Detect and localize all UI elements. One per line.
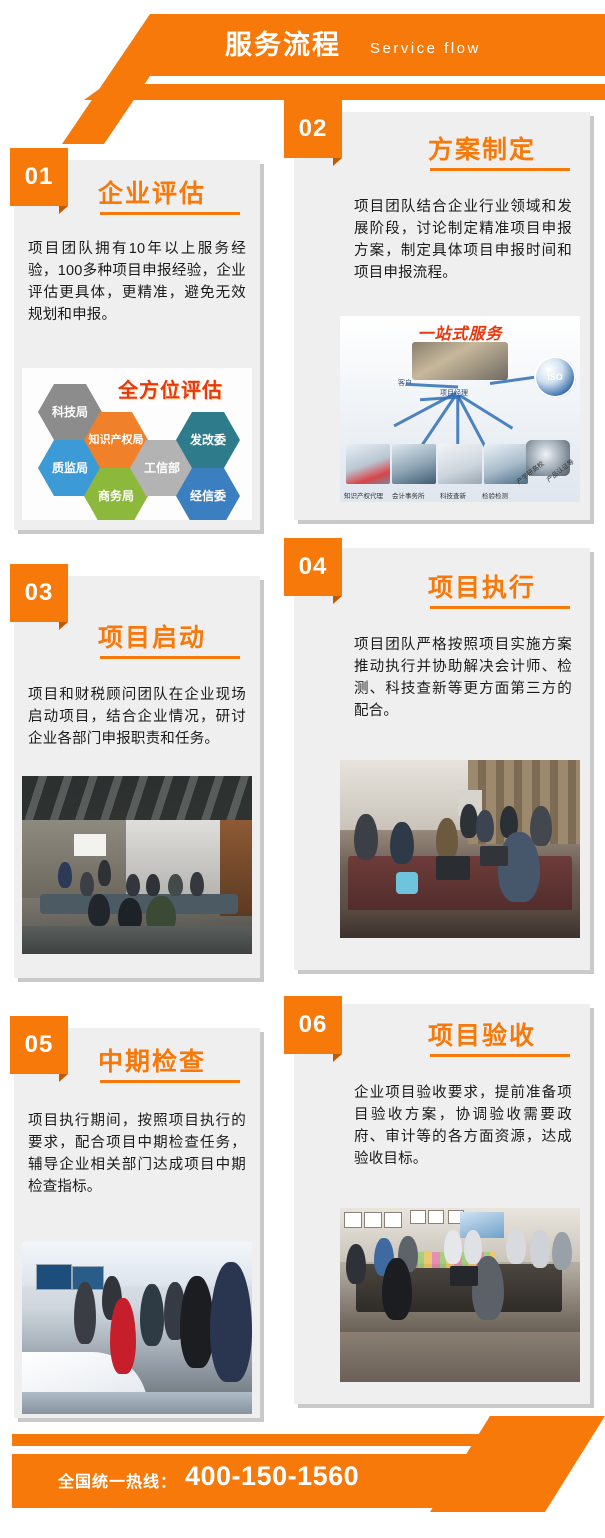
step-badge-01: 01	[10, 148, 68, 206]
step-title-rule-05	[100, 1080, 240, 1083]
page-title: 服务流程	[225, 24, 341, 66]
step-badge-05: 05	[10, 1016, 68, 1074]
photo-floor	[340, 910, 580, 938]
step-title-02: 方案制定	[428, 130, 536, 166]
step-body-01: 项目团队拥有10年以上服务经验，100多种项目申报经验，企业评估更具体，更精准，…	[28, 238, 246, 326]
step-title-03: 项目启动	[98, 618, 206, 654]
step-title-rule-04	[430, 606, 570, 609]
one-stop-thumb-ip	[346, 444, 390, 484]
photo-ceiling	[22, 776, 252, 822]
step-card-04: 04 项目执行 项目团队严格按照项目实施方案推动执行并协助解决会计师、检测、科技…	[294, 548, 590, 970]
step-title-rule-01	[100, 212, 240, 215]
step-body-05: 项目执行期间，按照项目执行的要求，配合项目中期检查任务，辅导企业相关部门达成项目…	[28, 1110, 246, 1198]
one-stop-diagram: 一站式服务 客户 项目经理 ISO 知识产权代理 会计事务	[340, 316, 580, 502]
photo-laptop	[436, 856, 470, 880]
photo-person	[168, 874, 183, 896]
step-media-01: 全方位评估 科技局 质监局 知识产权局 商务局 工信部 发改委 经信委	[22, 368, 252, 520]
photo-person	[530, 806, 552, 846]
step-title-rule-06	[430, 1054, 570, 1057]
photo-person	[98, 860, 111, 886]
page-subtitle: Service flow	[370, 36, 481, 62]
photo-whiteboard	[74, 834, 106, 856]
photo-team-working-meeting	[340, 760, 580, 938]
step-badge-06: 06	[284, 996, 342, 1054]
photo-certificate-frame	[364, 1212, 382, 1228]
photo-boardroom-acceptance-meeting	[340, 1208, 580, 1382]
step-card-02: 02 方案制定 项目团队结合企业行业领域和发展阶段，讨论制定精准项目申报方案，制…	[294, 112, 590, 520]
photo-certificate-frame	[410, 1210, 426, 1224]
photo-person	[74, 1282, 96, 1344]
step-media-04	[340, 760, 580, 938]
hex-node-label: 发改委	[190, 434, 226, 447]
hex-node-label: 科技局	[52, 406, 88, 419]
photo-floor	[340, 1332, 580, 1382]
step-media-06	[340, 1208, 580, 1382]
photo-laptop	[450, 1266, 478, 1286]
photo-person	[390, 822, 414, 864]
photo-person	[140, 1284, 164, 1346]
one-stop-label-manager: 项目经理	[440, 388, 468, 398]
photo-certificate-frame	[344, 1212, 362, 1228]
step-card-05: 05 中期检查 项目执行期间，按照项目执行的要求，配合项目中期检查任务，辅导企业…	[14, 1028, 260, 1418]
photo-floor	[22, 926, 252, 954]
hex-node-label: 工信部	[144, 462, 180, 475]
one-stop-label-customer: 客户	[398, 378, 412, 388]
hex-node-label: 知识产权局	[89, 434, 144, 447]
photo-bag	[396, 872, 418, 894]
photo-person	[444, 1230, 462, 1264]
step-body-06: 企业项目验收要求，提前准备项目验收方案，协调验收需要政府、审计等的各方面资源，达…	[354, 1082, 572, 1170]
one-stop-thumb-search	[438, 444, 482, 484]
photo-person-foreground	[382, 1258, 412, 1320]
hotline-number[interactable]: 400-150-1560	[185, 1461, 359, 1492]
one-stop-bottom-label: 科技查新	[440, 490, 466, 500]
step-title-rule-02	[430, 168, 570, 171]
hex-node-label: 商务局	[98, 490, 134, 503]
certification-seal-icon: ISO	[534, 356, 576, 398]
flow-arrow	[457, 395, 460, 447]
photo-person	[346, 1244, 366, 1284]
step-card-06: 06 项目验收 企业项目验收要求，提前准备项目验收方案，协调验收需要政府、审计等…	[294, 1004, 590, 1404]
header-stripe	[84, 84, 605, 100]
photo-floor	[22, 1392, 252, 1414]
step-card-03: 03 项目启动 项目和财税顾问团队在企业现场启动项目，结合企业情况，研讨企业各部…	[14, 576, 260, 978]
page-header: 服务流程 Service flow	[0, 0, 605, 112]
step-media-05	[22, 1242, 252, 1414]
photo-person	[552, 1232, 572, 1270]
step-title-01: 企业评估	[98, 174, 206, 210]
one-stop-hub-photo	[412, 342, 508, 380]
photo-person	[58, 862, 72, 888]
step-title-05: 中期检查	[98, 1042, 206, 1078]
photo-person-foreground	[88, 894, 110, 926]
step-media-03	[22, 776, 252, 954]
photo-certificate-frame	[428, 1210, 444, 1224]
hex-node-label: 经信委	[190, 490, 226, 503]
one-stop-thumb-accounting	[392, 444, 436, 484]
step-badge-02: 02	[284, 100, 342, 158]
hex-node-label: 质监局	[52, 462, 88, 475]
photo-person	[80, 872, 94, 896]
photo-person	[126, 874, 140, 896]
photo-monitor	[36, 1264, 72, 1290]
photo-lobby-group-visit	[22, 1242, 252, 1414]
photo-person	[530, 1230, 550, 1268]
one-stop-diagram-title: 一站式服务	[417, 320, 502, 344]
photo-laptop	[480, 846, 508, 866]
step-badge-03: 03	[10, 564, 68, 622]
page-footer: 全国统一热线： 400-150-1560	[0, 1420, 605, 1538]
photo-person	[460, 804, 478, 838]
photo-person-foreground	[210, 1262, 252, 1382]
photo-person	[190, 872, 204, 896]
one-stop-bottom-label: 知识产权代理	[344, 490, 383, 500]
step-body-02: 项目团队结合企业行业领域和发展阶段，讨论制定精准项目申报方案，制定具体项目申报时…	[354, 196, 572, 284]
one-stop-bottom-label: 会计事务所	[392, 490, 425, 500]
photo-person-foreground	[498, 832, 540, 902]
step-title-rule-03	[100, 656, 240, 659]
step-card-01: 01 企业评估 项目团队拥有10年以上服务经验，100多种项目申报经验，企业评估…	[14, 160, 260, 530]
photo-certificate-frame	[384, 1212, 402, 1228]
photo-person	[146, 874, 160, 896]
photo-person-red-coat	[110, 1298, 136, 1374]
hotline-label: 全国统一热线：	[58, 1468, 177, 1492]
step-title-06: 项目验收	[428, 1016, 536, 1052]
step-body-04: 项目团队严格按照项目实施方案推动执行并协助解决会计师、检测、科技查新等更方面第三…	[354, 634, 572, 722]
hexagon-diagram: 全方位评估 科技局 质监局 知识产权局 商务局 工信部 发改委 经信委	[22, 368, 252, 520]
step-body-03: 项目和财税顾问团队在企业现场启动项目，结合企业情况，研讨企业各部门申报职责和任务…	[28, 684, 246, 750]
photo-person-foreground	[180, 1276, 214, 1368]
photo-conference-room-meeting	[22, 776, 252, 954]
header-wedge-shape	[62, 14, 192, 144]
photo-person	[506, 1228, 526, 1264]
step-badge-04: 04	[284, 538, 342, 596]
infographic-page: 服务流程 Service flow 01 企业评估 项目团队拥有10年以上服务经…	[0, 0, 605, 1538]
step-media-02: 一站式服务 客户 项目经理 ISO 知识产权代理 会计事务	[340, 316, 580, 502]
photo-person	[476, 810, 494, 842]
photo-left-wall	[22, 820, 126, 898]
hexagon-diagram-title: 全方位评估	[118, 374, 223, 403]
one-stop-bottom-label: 检验检测	[482, 490, 508, 500]
photo-person	[354, 814, 378, 860]
photo-person	[436, 818, 458, 860]
step-title-04: 项目执行	[428, 568, 536, 604]
